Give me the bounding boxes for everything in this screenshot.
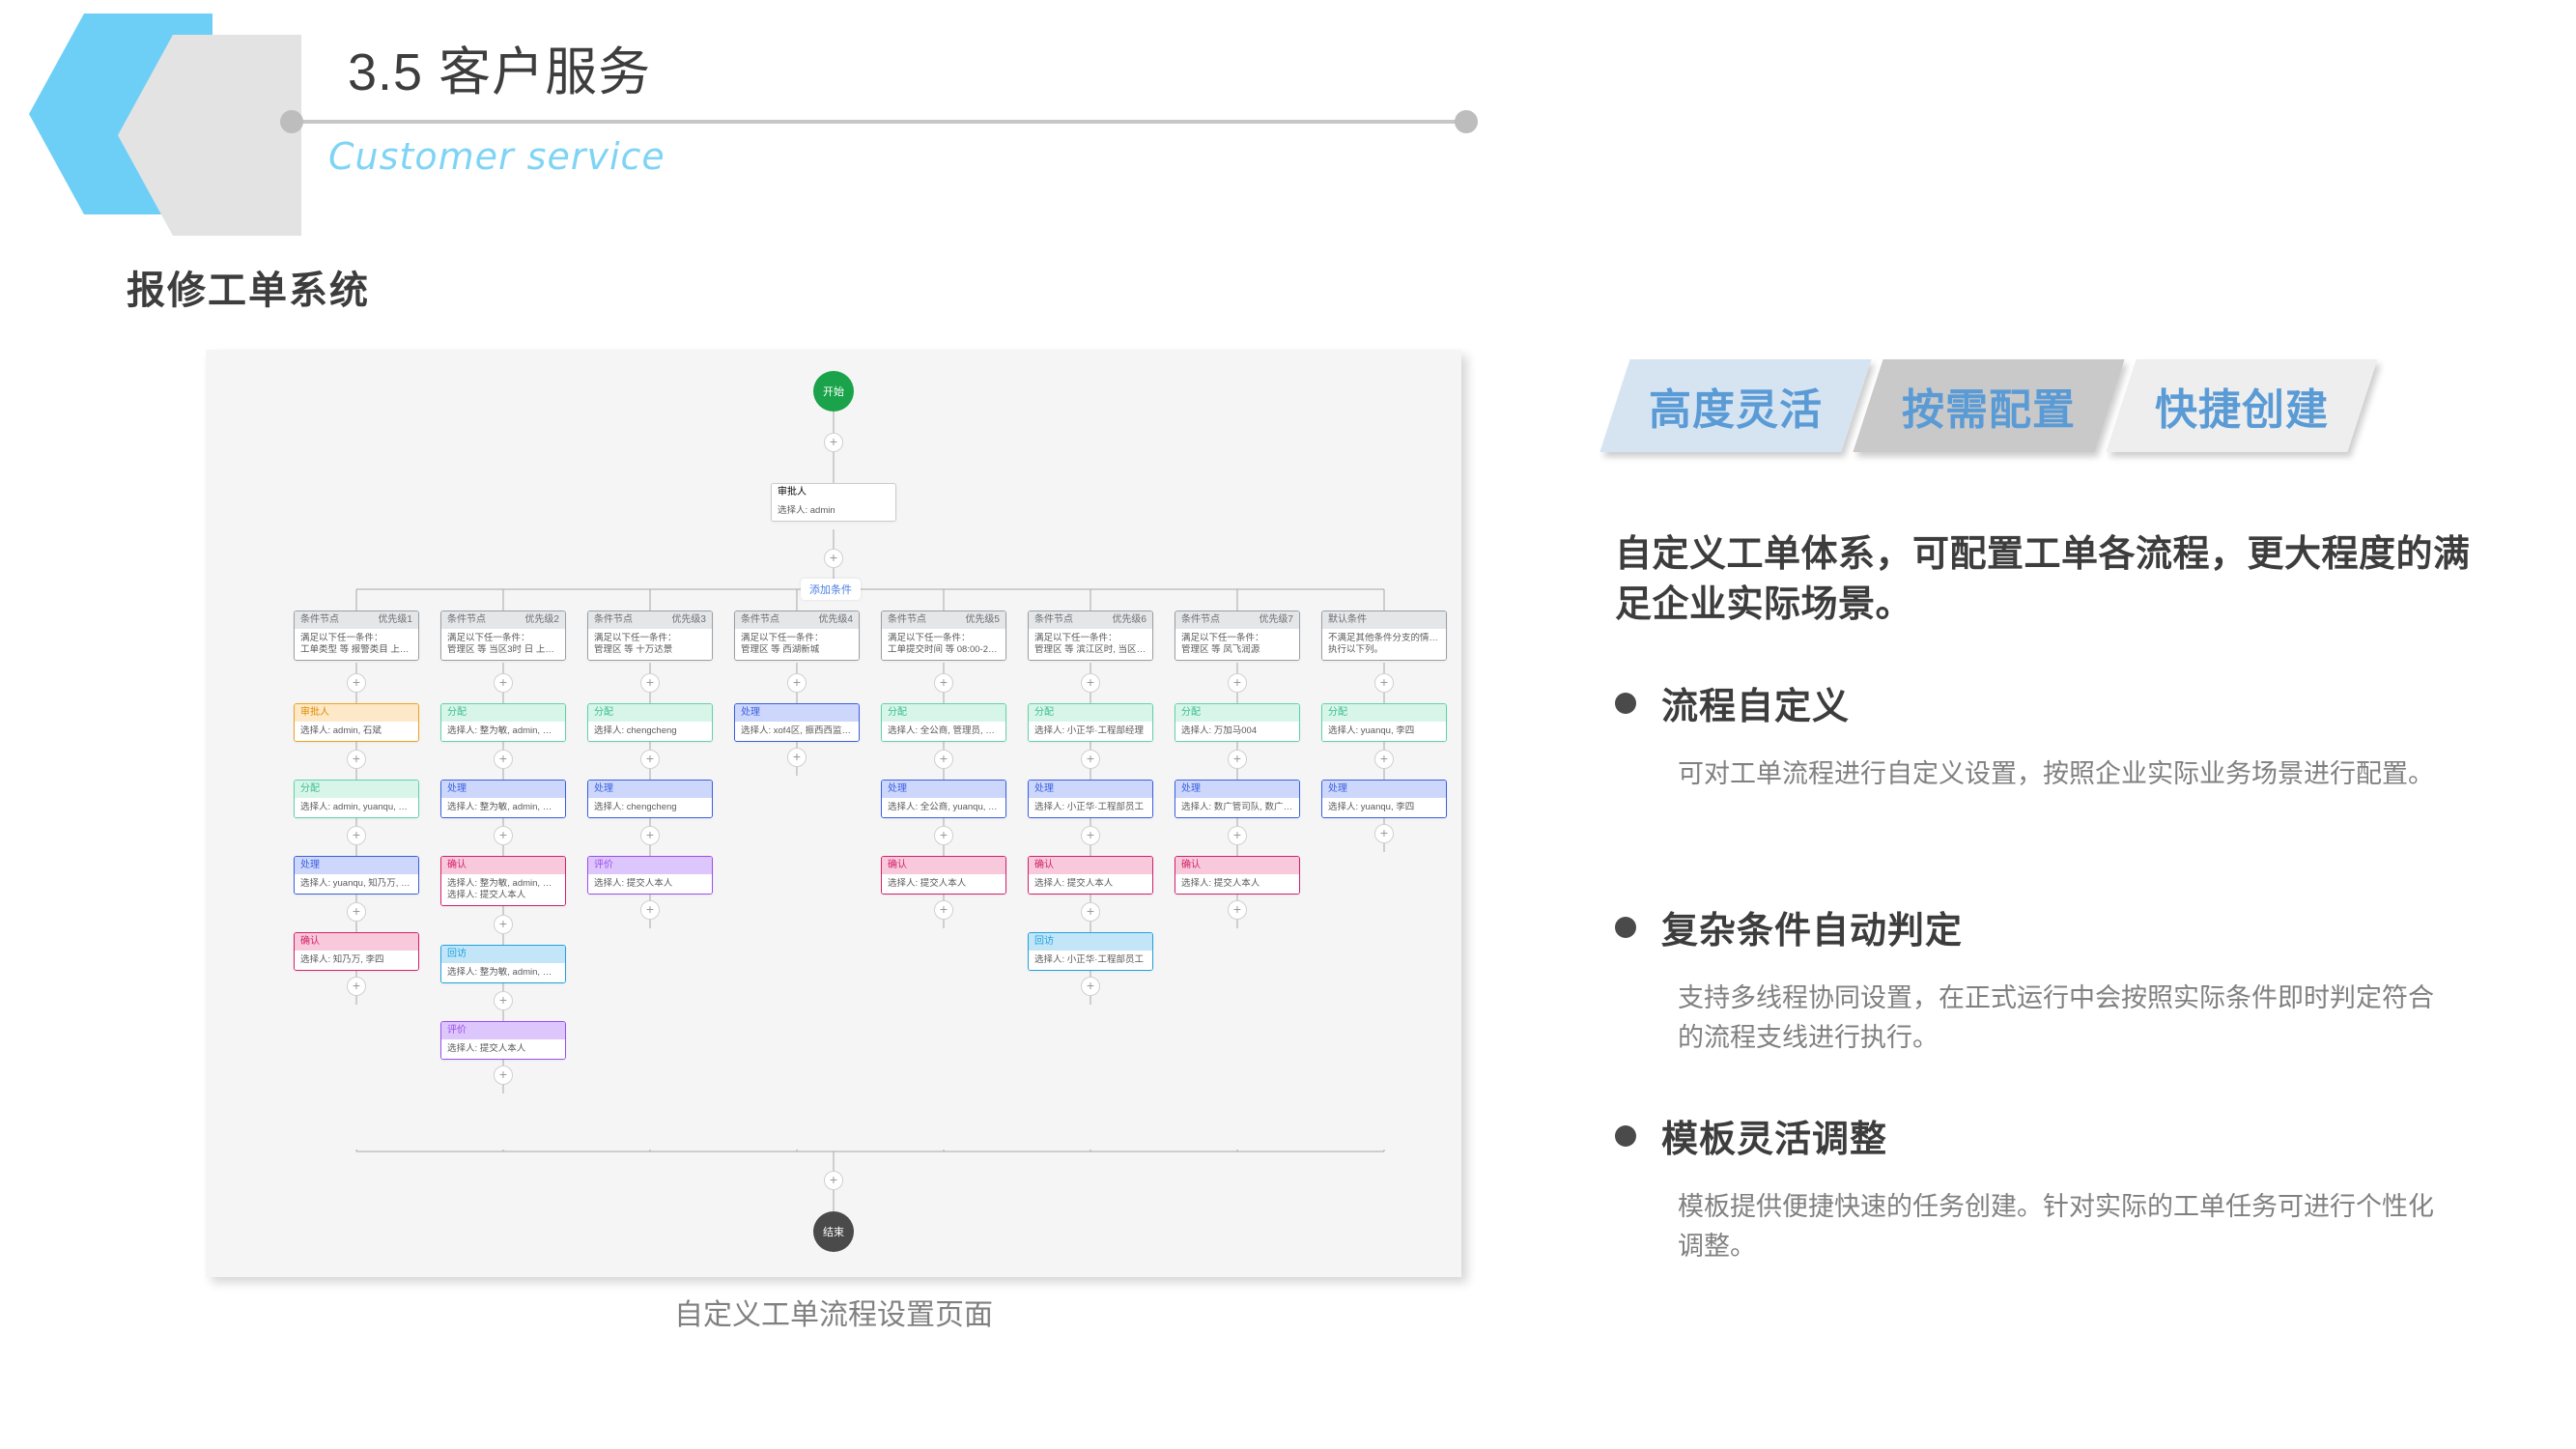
flow-node-body: 选择人: 全公商, yuanqu, xof4区... (882, 798, 1005, 817)
flow-node-header: 确认 (882, 857, 1005, 874)
add-node-button[interactable]: + (934, 900, 953, 920)
flow-node-type: 处理 (594, 783, 613, 795)
flow-node-type: 分配 (1328, 707, 1347, 719)
tag-quick-create[interactable]: 快捷创建 (2106, 359, 2377, 452)
flow-node-line: 选择人: 全公商, yuanqu, xof4区... (888, 802, 1000, 813)
flow-node-body: 选择人: xof4区, 振西西监察, ch... (735, 722, 859, 741)
tag-label: 快捷创建 (2155, 375, 2329, 437)
flow-node-line: 满足以下任一条件： (1181, 633, 1293, 644)
add-node-button[interactable]: + (494, 1065, 513, 1085)
feature-description: 支持多线程协同设置，在正式运行中会按照实际条件即时判定符合的流程支线进行执行。 (1678, 979, 2441, 1058)
flow-node-pink[interactable]: 确认选择人: 提交人本人 (881, 856, 1006, 895)
flow-node-type: 处理 (300, 860, 320, 871)
flow-node-type: 处理 (888, 783, 907, 795)
flow-node-header: 分配 (1029, 704, 1152, 722)
flow-node-line: 选择人: 全公商, 管理员, 商出栋 (888, 725, 1000, 737)
add-node-button[interactable]: + (494, 673, 513, 693)
flow-node-type: 处理 (1181, 783, 1201, 795)
flow-node-blue[interactable]: 处理选择人: yuanqu, 李四 (1321, 780, 1447, 818)
flow-end-node[interactable]: 结束 (813, 1211, 854, 1252)
section-title: 报修工单系统 (127, 259, 370, 315)
flow-node-header: 分配 (882, 704, 1005, 722)
flow-node-type: 评价 (594, 860, 613, 871)
feature-block-2: 复杂条件自动判定 支持多线程协同设置，在正式运行中会按照实际条件即时判定符合的流… (1615, 900, 2484, 1058)
flow-node-type: 审批人 (300, 707, 329, 719)
flow-node-header: 评价 (441, 1022, 565, 1039)
flow-node-line: 选择人: yuanqu, 李四 (1328, 802, 1440, 813)
flow-node-header: 评价 (588, 857, 712, 874)
tag-high-flexibility[interactable]: 高度灵活 (1599, 359, 1871, 452)
flow-node-header: 条件节点优先级3 (588, 611, 712, 629)
flow-node-header: 处理 (1175, 781, 1299, 798)
flow-node-priority: 优先级2 (524, 614, 559, 626)
add-node-button[interactable]: + (824, 549, 843, 568)
flow-node-line: 选择人: 提交人本人 (1181, 878, 1293, 890)
flow-node-header: 确认 (1029, 857, 1152, 874)
flow-node-header: 处理 (882, 781, 1005, 798)
flow-node-body: 选择人: yuanqu, 知乃万, 李四 (295, 874, 418, 894)
flow-node-type: 分配 (888, 707, 907, 719)
flow-node-header: 条件节点优先级7 (1175, 611, 1299, 629)
flow-node-blue[interactable]: 处理选择人: xof4区, 振西西监察, ch... (734, 703, 860, 742)
flow-node-header: 回访 (441, 946, 565, 963)
flow-node-line: 管理区 等 十万达景 (594, 644, 706, 656)
flow-condition-node[interactable]: 条件节点优先级4满足以下任一条件：管理区 等 西湖新城 (734, 611, 860, 661)
flow-node-body: 选择人: admin, yuanqu, 知乃... (295, 798, 418, 817)
flow-node-type: 分配 (300, 783, 320, 795)
add-node-button[interactable]: + (787, 748, 807, 767)
flow-node-header: 条件节点优先级5 (882, 611, 1005, 629)
flow-node-type: 确认 (1034, 860, 1054, 871)
flow-node-line: 管理区 等 当区3时 日 上一步单... (447, 644, 559, 656)
tag-label: 高度灵活 (1649, 375, 1823, 437)
flow-node-priority: 优先级6 (1112, 614, 1146, 626)
flow-node-line: 选择人: 整为敏, admin, 商业企... (447, 967, 559, 979)
flow-node-blue[interactable]: 处理选择人: 整为敏, admin, 周董成... (440, 780, 566, 818)
flow-node-line: 选择人: 小正华·工程部员工 (1034, 954, 1146, 966)
flow-node-purple[interactable]: 评价选择人: 提交人本人 (440, 1021, 566, 1060)
add-node-button[interactable]: + (494, 750, 513, 769)
flow-node-body: 选择人: 整为敏, admin, 商业企... (441, 963, 565, 982)
flow-node-undefined[interactable]: 审批人选择人: admin (771, 483, 896, 522)
flow-node-type: 分配 (447, 707, 467, 719)
flow-node-cyan[interactable]: 回访选择人: 整为敏, admin, 商业企... (440, 945, 566, 983)
flow-node-blue[interactable]: 处理选择人: 数广管司队, 数广小程序... (1175, 780, 1300, 818)
flow-node-line: 工单提交时间 等 08:00-23:59 (888, 644, 1000, 656)
flow-node-header: 确认 (441, 857, 565, 874)
flow-node-purple[interactable]: 评价选择人: 提交人本人 (587, 856, 713, 895)
flow-node-type: 确认 (1181, 860, 1201, 871)
add-node-button[interactable]: + (1228, 750, 1247, 769)
flow-node-cyan[interactable]: 回访选择人: 小正华·工程部员工 (1028, 932, 1153, 971)
flow-node-priority: 优先级1 (378, 614, 412, 626)
add-node-button[interactable]: + (1374, 673, 1394, 693)
flow-node-green[interactable]: 分配选择人: 全公商, 管理员, 商出栋 (881, 703, 1006, 742)
feature-title: 复杂条件自动判定 (1661, 900, 1963, 953)
screenshot-caption: 自定义工单流程设置页面 (206, 1291, 1461, 1333)
add-node-button[interactable]: + (1081, 673, 1100, 693)
flow-node-line: 选择人: chengcheng (594, 725, 706, 737)
flow-condition-node[interactable]: 条件节点优先级2满足以下任一条件：管理区 等 当区3时 日 上一步单... (440, 611, 566, 661)
flow-node-header: 分配 (588, 704, 712, 722)
flow-node-line: 选择人: 整为敏, admin, 商业企... (447, 878, 559, 890)
flow-node-type: 回访 (1034, 936, 1054, 948)
flow-start-node[interactable]: 开始 (813, 371, 854, 412)
flow-node-blue[interactable]: 处理选择人: 全公商, yuanqu, xof4区... (881, 780, 1006, 818)
flow-node-line: 选择人: admin (778, 505, 890, 517)
flow-node-header: 回访 (1029, 933, 1152, 951)
flow-node-line: 选择人: 小正华·工程部经理 (1034, 725, 1146, 737)
feature-title: 流程自定义 (1661, 676, 1850, 729)
flowchart-canvas: 开始+审批人选择人: admin+添加条件条件节点优先级1满足以下任一条件：工单… (206, 350, 1461, 1277)
flow-node-line: 满足以下任一条件： (300, 633, 412, 644)
flow-node-line: 满足以下任一条件： (1034, 633, 1146, 644)
flow-node-body: 选择人: yuanqu, 李四 (1322, 798, 1446, 817)
flow-node-header: 分配 (1175, 704, 1299, 722)
flow-node-body: 满足以下任一条件：工单类型 等 报警类目 上一步单... (295, 629, 418, 660)
flow-node-type: 默认条件 (1328, 614, 1367, 626)
flow-node-line: 满足以下任一条件： (888, 633, 1000, 644)
tag-label: 按需配置 (1902, 375, 2076, 437)
flow-node-line: 选择人: 提交人本人 (447, 890, 559, 901)
flow-node-line: 执行以下列。 (1328, 644, 1440, 656)
flow-node-type: 确认 (888, 860, 907, 871)
flow-node-priority: 优先级5 (965, 614, 1000, 626)
add-node-button[interactable]: + (1228, 826, 1247, 845)
flow-node-green[interactable]: 分配选择人: chengcheng (587, 703, 713, 742)
add-node-button[interactable]: + (934, 750, 953, 769)
flow-node-priority: 优先级4 (818, 614, 853, 626)
flow-node-body: 满足以下任一条件：工单提交时间 等 08:00-23:59 (882, 629, 1005, 660)
flow-node-body: 选择人: yuanqu, 李四 (1322, 722, 1446, 741)
feature-heading: 模板灵活调整 (1615, 1109, 2484, 1162)
flow-node-line: 选择人: admin, yuanqu, 知乃... (300, 802, 412, 813)
add-node-button[interactable]: + (347, 977, 366, 996)
flow-node-line: 选择人: 整为敏, admin, 商业企... (447, 725, 559, 737)
flow-node-type: 条件节点 (1181, 614, 1220, 626)
flow-node-blue[interactable]: 处理选择人: yuanqu, 知乃万, 李四 (294, 856, 419, 895)
add-node-button[interactable]: + (640, 673, 660, 693)
flow-node-header: 条件节点优先级2 (441, 611, 565, 629)
add-node-button[interactable]: + (787, 673, 807, 693)
add-node-button[interactable]: + (494, 991, 513, 1010)
flow-node-body: 选择人: 提交人本人 (588, 874, 712, 894)
divider-dot-left-icon (280, 110, 303, 133)
flow-node-body: 选择人: 万加马004 (1175, 722, 1299, 741)
flow-node-header: 确认 (1175, 857, 1299, 874)
flow-node-header: 处理 (735, 704, 859, 722)
bullet-dot-icon (1615, 917, 1636, 938)
flow-node-orange[interactable]: 审批人选择人: admin, 石斌 (294, 703, 419, 742)
flow-node-line: 选择人: 小正华·工程部员工 (1034, 802, 1146, 813)
flow-condition-node[interactable]: 默认条件不满足其他条件分支的情况，停止执行以下列。 (1321, 611, 1447, 661)
flow-node-header: 分配 (1322, 704, 1446, 722)
add-node-button[interactable]: + (824, 433, 843, 452)
flow-node-line: 工单类型 等 报警类目 上一步单... (300, 644, 412, 656)
flow-node-blue[interactable]: 处理选择人: 小正华·工程部员工 (1028, 780, 1153, 818)
add-node-button[interactable]: + (1374, 750, 1394, 769)
bullet-dot-icon (1615, 1125, 1636, 1147)
flow-node-body: 不满足其他条件分支的情况，停止执行以下列。 (1322, 629, 1446, 660)
flow-node-pink[interactable]: 确认选择人: 整为敏, admin, 商业企...选择人: 提交人本人 (440, 856, 566, 906)
flow-condition-node[interactable]: 条件节点优先级5满足以下任一条件：工单提交时间 等 08:00-23:59 (881, 611, 1006, 661)
flow-node-line: 满足以下任一条件： (741, 633, 853, 644)
flow-node-line: 选择人: 提交人本人 (888, 878, 1000, 890)
flow-node-type: 处理 (1034, 783, 1054, 795)
flow-node-type: 条件节点 (1034, 614, 1073, 626)
flow-node-body: 满足以下任一条件：管理区 等 当区3时 日 上一步单... (441, 629, 565, 660)
flow-node-header: 分配 (441, 704, 565, 722)
add-node-button[interactable]: + (934, 826, 953, 845)
flow-node-line: 选择人: yuanqu, 李四 (1328, 725, 1440, 737)
add-node-button[interactable]: + (640, 900, 660, 920)
flow-node-type: 条件节点 (300, 614, 339, 626)
add-node-button[interactable]: + (1374, 824, 1394, 843)
flow-node-line: 选择人: 知乃万, 李四 (300, 954, 412, 966)
flow-node-body: 选择人: chengcheng (588, 798, 712, 817)
flow-node-header: 审批人 (295, 704, 418, 722)
flow-condition-node[interactable]: 条件节点优先级3满足以下任一条件：管理区 等 十万达景 (587, 611, 713, 661)
add-node-button[interactable]: + (640, 826, 660, 845)
flow-node-green[interactable]: 分配选择人: admin, yuanqu, 知乃... (294, 780, 419, 818)
flow-node-line: 满足以下任一条件： (594, 633, 706, 644)
flow-node-type: 处理 (741, 707, 760, 719)
feature-title: 模板灵活调整 (1661, 1109, 1887, 1162)
flow-node-line: 管理区 等 西湖新城 (741, 644, 853, 656)
flow-node-body: 满足以下任一条件：管理区 等 滨江区时, 当区3时, ... (1029, 629, 1152, 660)
flow-node-line: 选择人: 整为敏, admin, 周董成... (447, 802, 559, 813)
flow-node-type: 条件节点 (888, 614, 926, 626)
add-node-button[interactable]: + (1081, 977, 1100, 996)
flow-node-header: 处理 (441, 781, 565, 798)
flow-node-pink[interactable]: 确认选择人: 提交人本人 (1175, 856, 1300, 895)
flow-node-header: 条件节点优先级1 (295, 611, 418, 629)
flow-node-type: 处理 (1328, 783, 1347, 795)
add-node-button[interactable]: + (824, 1171, 843, 1190)
add-node-button[interactable]: + (1228, 673, 1247, 693)
flow-node-body: 选择人: 全公商, 管理员, 商出栋 (882, 722, 1005, 741)
feature-description: 可对工单流程进行自定义设置，按照企业实际业务场景进行配置。 (1678, 754, 2441, 794)
page-subtitle: Customer service (328, 135, 665, 178)
flow-node-type: 分配 (594, 707, 613, 719)
flow-node-type: 条件节点 (741, 614, 779, 626)
flow-node-header: 条件节点优先级6 (1029, 611, 1152, 629)
add-node-button[interactable]: + (1081, 902, 1100, 922)
tag-on-demand-config[interactable]: 按需配置 (1853, 359, 2124, 452)
add-node-button[interactable]: + (640, 750, 660, 769)
feature-block-3: 模板灵活调整 模板提供便捷快速的任务创建。针对实际的工单任务可进行个性化调整。 (1615, 1109, 2484, 1266)
flow-node-line: 管理区 等 滨江区时, 当区3时, ... (1034, 644, 1146, 656)
flow-node-pink[interactable]: 确认选择人: 知乃万, 李四 (294, 932, 419, 971)
flow-node-line: 满足以下任一条件： (447, 633, 559, 644)
flow-node-body: 选择人: 提交人本人 (1029, 874, 1152, 894)
flow-node-line: 选择人: 万加马004 (1181, 725, 1293, 737)
flow-node-body: 选择人: 整为敏, admin, 商业企... (441, 722, 565, 741)
flow-node-blue[interactable]: 处理选择人: chengcheng (587, 780, 713, 818)
divider-dot-right-icon (1455, 110, 1478, 133)
flow-node-header: 审批人 (772, 484, 895, 501)
slide-root: 3.5 客户服务 Customer service 报修工单系统 开始+审批人选… (0, 0, 2576, 1449)
flow-node-type: 确认 (447, 860, 467, 871)
flow-node-body: 满足以下任一条件：管理区 等 凤飞润源 (1175, 629, 1299, 660)
flow-node-line: 选择人: 提交人本人 (447, 1043, 559, 1055)
flow-node-header: 确认 (295, 933, 418, 951)
flow-node-priority: 优先级7 (1259, 614, 1293, 626)
flow-node-header: 条件节点优先级4 (735, 611, 859, 629)
flow-node-body: 选择人: 小正华·工程部员工 (1029, 951, 1152, 970)
screenshot-card: 开始+审批人选择人: admin+添加条件条件节点优先级1满足以下任一条件：工单… (206, 350, 1461, 1277)
header-divider (286, 120, 1472, 124)
flow-condition-node[interactable]: 条件节点优先级7满足以下任一条件：管理区 等 凤飞润源 (1175, 611, 1300, 661)
flow-node-header: 处理 (295, 857, 418, 874)
flow-node-green[interactable]: 分配选择人: 万加马004 (1175, 703, 1300, 742)
logo-hexagons (21, 4, 311, 226)
flow-node-body: 选择人: chengcheng (588, 722, 712, 741)
flow-node-line: 选择人: xof4区, 振西西监察, ch... (741, 725, 853, 737)
flow-node-body: 选择人: 知乃万, 李四 (295, 951, 418, 970)
flow-node-line: 选择人: chengcheng (594, 802, 706, 813)
add-node-button[interactable]: + (934, 673, 953, 693)
flow-condition-node[interactable]: 条件节点优先级1满足以下任一条件：工单类型 等 报警类目 上一步单... (294, 611, 419, 661)
flow-node-type: 条件节点 (594, 614, 633, 626)
flow-node-line: 选择人: yuanqu, 知乃万, 李四 (300, 878, 412, 890)
add-node-button[interactable]: + (347, 673, 366, 693)
flow-node-body: 选择人: admin, 石斌 (295, 722, 418, 741)
flow-node-body: 满足以下任一条件：管理区 等 十万达景 (588, 629, 712, 660)
flow-node-header: 处理 (1322, 781, 1446, 798)
flow-node-type: 分配 (1034, 707, 1054, 719)
flow-node-type: 评价 (447, 1025, 467, 1037)
flow-node-line: 不满足其他条件分支的情况，停止 (1328, 633, 1440, 644)
flow-node-header: 默认条件 (1322, 611, 1446, 629)
add-node-button[interactable]: + (347, 750, 366, 769)
flow-node-body: 选择人: 小正华·工程部经理 (1029, 722, 1152, 741)
flow-node-type: 处理 (447, 783, 467, 795)
feature-description: 模板提供便捷快速的任务创建。针对实际的工单任务可进行个性化调整。 (1678, 1187, 2441, 1266)
add-node-button[interactable]: + (494, 915, 513, 934)
add-node-button[interactable]: + (494, 826, 513, 845)
page-title: 3.5 客户服务 (348, 29, 651, 105)
flow-node-body: 选择人: 提交人本人 (882, 874, 1005, 894)
flow-node-pink[interactable]: 确认选择人: 提交人本人 (1028, 856, 1153, 895)
flow-node-green[interactable]: 分配选择人: yuanqu, 李四 (1321, 703, 1447, 742)
flow-node-body: 选择人: 整为敏, admin, 商业企...选择人: 提交人本人 (441, 874, 565, 905)
flow-node-line: 选择人: 提交人本人 (594, 878, 706, 890)
bullet-dot-icon (1615, 693, 1636, 714)
flow-node-priority: 优先级3 (671, 614, 706, 626)
flow-node-header: 处理 (1029, 781, 1152, 798)
flow-node-body: 选择人: 提交人本人 (1175, 874, 1299, 894)
flow-node-header: 分配 (295, 781, 418, 798)
add-node-button[interactable]: + (347, 902, 366, 922)
flow-node-type: 审批人 (778, 487, 807, 498)
add-node-button[interactable]: + (1228, 900, 1247, 920)
flow-node-body: 选择人: admin (772, 501, 895, 521)
lead-paragraph: 自定义工单体系，可配置工单各流程，更大程度的满足企业实际场景。 (1615, 529, 2504, 631)
flow-node-type: 条件节点 (447, 614, 486, 626)
flow-node-type: 回访 (447, 949, 467, 960)
add-node-button[interactable]: + (1081, 826, 1100, 845)
add-node-button[interactable]: + (347, 826, 366, 845)
flow-node-type: 分配 (1181, 707, 1201, 719)
flow-node-type: 确认 (300, 936, 320, 948)
flow-node-body: 满足以下任一条件：管理区 等 西湖新城 (735, 629, 859, 660)
feature-block-1: 流程自定义 可对工单流程进行自定义设置，按照企业实际业务场景进行配置。 (1615, 676, 2484, 794)
flow-condition-node[interactable]: 条件节点优先级6满足以下任一条件：管理区 等 滨江区时, 当区3时, ... (1028, 611, 1153, 661)
flow-node-line: 选择人: admin, 石斌 (300, 725, 412, 737)
add-node-button[interactable]: + (1081, 750, 1100, 769)
flow-node-body: 选择人: 数广管司队, 数广小程序... (1175, 798, 1299, 817)
flow-node-header: 处理 (588, 781, 712, 798)
flow-node-green[interactable]: 分配选择人: 小正华·工程部经理 (1028, 703, 1153, 742)
feature-heading: 复杂条件自动判定 (1615, 900, 2484, 953)
feature-heading: 流程自定义 (1615, 676, 2484, 729)
flow-node-line: 选择人: 提交人本人 (1034, 878, 1146, 890)
flow-node-body: 选择人: 小正华·工程部员工 (1029, 798, 1152, 817)
flow-node-body: 选择人: 整为敏, admin, 周董成... (441, 798, 565, 817)
flow-node-body: 选择人: 提交人本人 (441, 1039, 565, 1059)
flow-node-line: 管理区 等 凤飞润源 (1181, 644, 1293, 656)
flow-node-line: 选择人: 数广管司队, 数广小程序... (1181, 802, 1293, 813)
add-condition-button[interactable]: 添加条件 (801, 579, 861, 600)
flow-node-green[interactable]: 分配选择人: 整为敏, admin, 商业企... (440, 703, 566, 742)
